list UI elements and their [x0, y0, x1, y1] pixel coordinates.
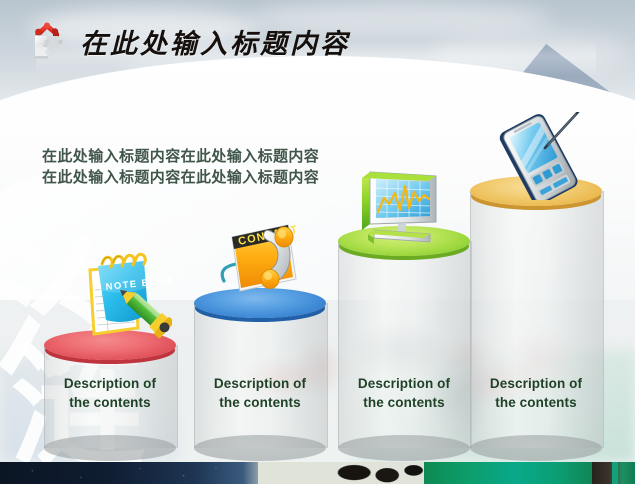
pillar-4-base — [470, 435, 602, 461]
subtitle-line-1: 在此处输入标题内容在此处输入标题内容 — [42, 146, 319, 167]
pillar-3-body — [338, 241, 472, 448]
pillar-3-base — [338, 435, 470, 461]
pillar-4[interactable]: Description of the contents — [470, 176, 602, 460]
pillar-2-label-line-2: the contents — [194, 394, 326, 413]
pillar-3-label-line-1: Description of — [338, 375, 470, 394]
pillar-3[interactable]: Description of the contents — [338, 226, 470, 460]
contact-telephone-icon: CONTACT — [212, 215, 312, 303]
subtitle-line-2: 在此处输入标题内容在此处输入标题内容 — [42, 167, 319, 188]
pillar-4-label-line-2: the contents — [470, 394, 602, 413]
house-puzzle-icon — [26, 20, 70, 60]
monitor-chart-icon — [344, 168, 448, 246]
pillar-2-label-line-1: Description of — [194, 375, 326, 394]
pillar-2-base — [194, 435, 326, 461]
pillar-4-label-line-1: Description of — [470, 375, 602, 394]
pillar-2[interactable]: Description of the contents — [194, 288, 326, 460]
page-title: 在此处输入标题内容 — [80, 22, 350, 61]
pda-stylus-icon — [492, 112, 588, 200]
pillar-4-label: Description of the contents — [470, 375, 602, 412]
ink-band-teal-stripe — [612, 462, 618, 484]
pillar-1-base — [44, 435, 176, 461]
pillar-1-label-line-2: the contents — [44, 394, 176, 413]
subtitle-text-block: 在此处输入标题内容在此处输入标题内容 在此处输入标题内容在此处输入标题内容 — [42, 146, 319, 189]
pillar-3-label-line-2: the contents — [338, 394, 470, 413]
pillar-2-label: Description of the contents — [194, 375, 326, 412]
presentation-slide: 汐 涟 — [0, 0, 635, 484]
pillar-1[interactable]: Description of the contents — [44, 330, 176, 460]
ink-band-teal-segment — [424, 462, 599, 484]
bottom-ink-band — [0, 462, 635, 484]
ink-band-navy-segment — [0, 462, 270, 484]
pillar-3-label: Description of the contents — [338, 375, 470, 412]
pillar-1-label-line-1: Description of — [44, 375, 176, 394]
notebook-pencil-icon: NOTE BOOK — [68, 250, 172, 346]
pillar-1-label: Description of the contents — [44, 375, 176, 412]
